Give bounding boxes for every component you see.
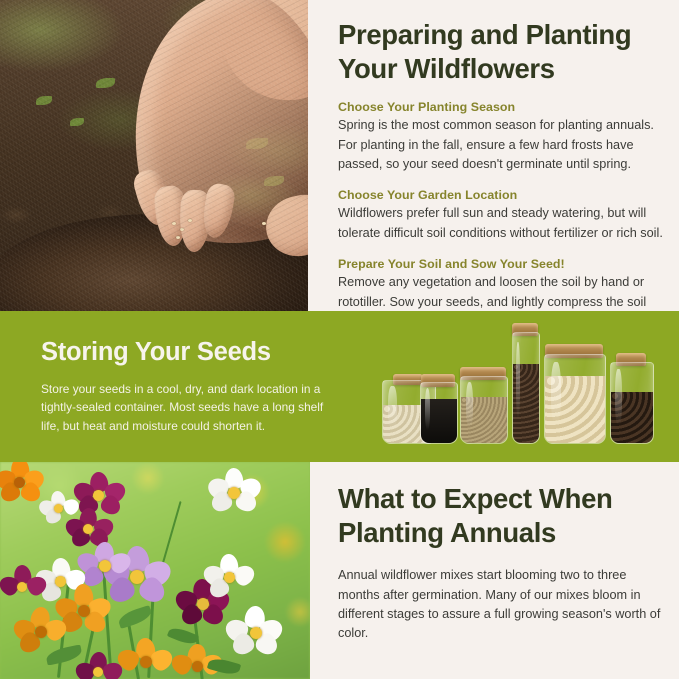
- flower-white: [226, 608, 282, 656]
- glass-highlight: [516, 342, 520, 419]
- body-planting-season: Spring is the most common season for pla…: [338, 116, 664, 174]
- glass-highlight: [388, 386, 396, 429]
- glass-body: [512, 332, 540, 444]
- jar-tall-tube-dark-seeds: [512, 334, 538, 444]
- expect-body: Annual wildflower mixes start blooming t…: [338, 566, 664, 644]
- glass-highlight: [615, 369, 622, 425]
- flower-lilac: [78, 542, 130, 588]
- wildflower-planting-infographic: Preparing and Planting Your Wildflowers …: [0, 0, 679, 679]
- expect-text-column: What to Expect When Planting Annuals Ann…: [338, 462, 664, 644]
- block-planting-season: Choose Your Planting Season Spring is th…: [338, 100, 664, 174]
- subheading-prepare-soil: Prepare Your Soil and Sow Your Seed!: [338, 257, 664, 271]
- jar-pumpkin-seeds: [544, 356, 604, 444]
- expect-heading: What to Expect When Planting Annuals: [338, 462, 664, 550]
- subheading-garden-location: Choose Your Garden Location: [338, 188, 664, 202]
- flower-white: [204, 556, 254, 598]
- preparing-heading: Preparing and Planting Your Wildflowers: [338, 0, 664, 86]
- glass-body: [610, 362, 654, 444]
- wildflower-meadow-photo: [0, 462, 310, 679]
- glass-highlight: [551, 362, 561, 424]
- section-preparing-and-planting: Preparing and Planting Your Wildflowers …: [0, 0, 679, 311]
- flower-orange: [118, 638, 172, 679]
- subheading-planting-season: Choose Your Planting Season: [338, 100, 664, 114]
- seed-jars-photo: [376, 317, 676, 462]
- glass-body: [460, 376, 508, 444]
- flower-magenta: [0, 566, 46, 606]
- storing-body: Store your seeds in a cool, dry, and dar…: [41, 380, 326, 436]
- storing-heading: Storing Your Seeds: [41, 337, 326, 368]
- glass-body: [420, 382, 458, 444]
- block-garden-location: Choose Your Garden Location Wildflowers …: [338, 188, 664, 243]
- body-garden-location: Wildflowers prefer full sun and steady w…: [338, 204, 664, 243]
- section-storing-your-seeds: Storing Your Seeds Store your seeds in a…: [0, 311, 679, 462]
- flower-white: [206, 470, 262, 514]
- glass-highlight: [466, 382, 473, 428]
- jar-black-seeds: [420, 384, 456, 444]
- jar-sandy-seeds: [460, 378, 506, 444]
- glass-highlight: [425, 388, 431, 430]
- storing-text-column: Storing Your Seeds Store your seeds in a…: [41, 337, 326, 435]
- preparing-text-column: Preparing and Planting Your Wildflowers …: [338, 0, 664, 332]
- soil-texture-layer: [0, 0, 308, 311]
- flower-orange: [0, 462, 44, 504]
- flower-white-small: [38, 492, 80, 524]
- hands-sowing-seeds-photo: [0, 0, 308, 311]
- flower-orange: [14, 608, 66, 654]
- section-what-to-expect: What to Expect When Planting Annuals Ann…: [0, 462, 679, 679]
- jar-sunflower-seeds: [610, 364, 652, 444]
- glass-body: [544, 354, 606, 444]
